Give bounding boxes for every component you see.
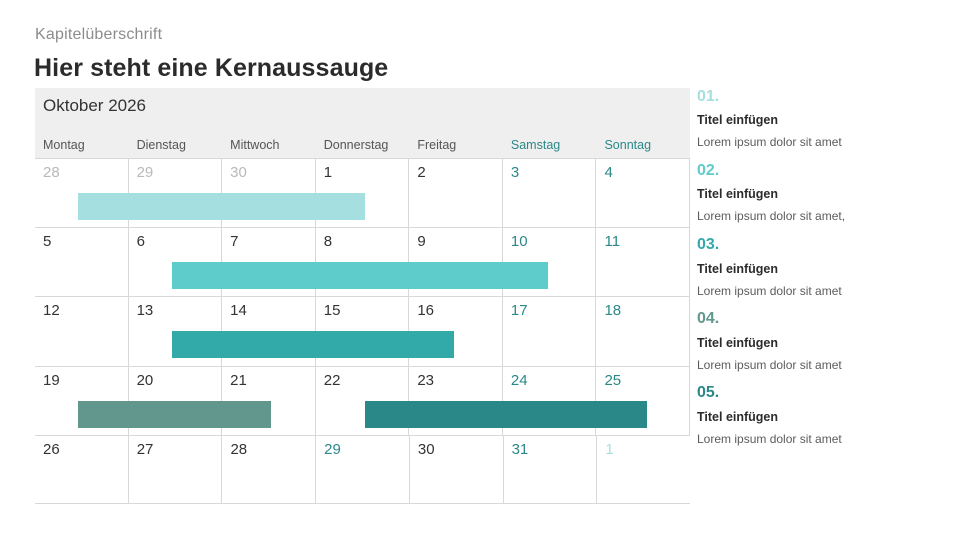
weekday-header-2: Mittwoch [222, 138, 316, 158]
sidebar-item-number: 02. [697, 162, 947, 180]
calendar-day-cell[interactable]: 5 [35, 228, 129, 296]
calendar-day-number: 18 [604, 302, 621, 319]
calendar-day-cell[interactable]: 30 [410, 436, 504, 503]
weekday-header-1: Dienstag [129, 138, 223, 158]
calendar-week-row: 2829301234 [35, 158, 690, 227]
calendar-day-cell[interactable]: 3 [503, 159, 597, 227]
calendar-day-number: 25 [604, 372, 621, 389]
weekday-header-6: Sonntag [596, 138, 690, 158]
calendar-day-number: 27 [137, 441, 154, 458]
sidebar-item-body: Lorem ipsum dolor sit amet, [697, 209, 947, 223]
sidebar-item-title: Titel einfügen [697, 187, 947, 202]
calendar-day-number: 21 [230, 372, 247, 389]
calendar-weekday-row: MontagDienstagMittwochDonnerstagFreitagS… [35, 138, 690, 158]
calendar-event-bar[interactable] [365, 401, 647, 428]
sidebar-item-number: 05. [697, 384, 947, 402]
calendar-day-number: 11 [604, 233, 620, 250]
weekday-header-3: Donnerstag [316, 138, 410, 158]
calendar-week-row: 2627282930311 [35, 435, 690, 504]
calendar-day-number: 16 [417, 302, 434, 319]
sidebar-item[interactable]: 04.Titel einfügenLorem ipsum dolor sit a… [697, 310, 947, 372]
calendar-day-number: 1 [324, 164, 332, 181]
sidebar-item-title: Titel einfügen [697, 410, 947, 425]
calendar-day-cell[interactable]: 11 [596, 228, 690, 296]
page-title: Hier steht eine Kernaussauge [34, 54, 388, 83]
calendar-day-number: 24 [511, 372, 528, 389]
sidebar-item-number: 04. [697, 310, 947, 328]
calendar-week-row: 567891011 [35, 227, 690, 296]
sidebar-item[interactable]: 03.Titel einfügenLorem ipsum dolor sit a… [697, 236, 947, 298]
sidebar-item-number: 03. [697, 236, 947, 254]
calendar-day-number: 10 [511, 233, 528, 250]
calendar-event-bar[interactable] [172, 262, 548, 289]
calendar-day-number: 9 [417, 233, 425, 250]
calendar-day-number: 22 [324, 372, 341, 389]
weekday-header-4: Freitag [409, 138, 503, 158]
sidebar-item-title: Titel einfügen [697, 336, 947, 351]
calendar-event-bar[interactable] [78, 401, 271, 428]
calendar-day-number: 7 [230, 233, 238, 250]
calendar-day-cell[interactable]: 18 [596, 297, 690, 365]
sidebar-item[interactable]: 05.Titel einfügenLorem ipsum dolor sit a… [697, 384, 947, 446]
calendar-day-number: 29 [137, 164, 154, 181]
calendar-day-cell[interactable]: 4 [596, 159, 690, 227]
calendar-day-number: 26 [43, 441, 60, 458]
calendar-day-number: 15 [324, 302, 341, 319]
calendar-day-cell[interactable]: 28 [222, 436, 316, 503]
calendar-day-cell[interactable]: 12 [35, 297, 129, 365]
calendar-day-number: 1 [605, 441, 613, 458]
calendar-day-number: 12 [43, 302, 60, 319]
sidebar-item-number: 01. [697, 88, 947, 106]
calendar-day-cell[interactable]: 2 [409, 159, 503, 227]
calendar-day-number: 28 [230, 441, 247, 458]
calendar-day-number: 30 [230, 164, 247, 181]
calendar-day-number: 30 [418, 441, 435, 458]
calendar-day-number: 6 [137, 233, 145, 250]
sidebar-item-title: Titel einfügen [697, 113, 947, 128]
weekday-header-5: Samstag [503, 138, 597, 158]
calendar-day-cell[interactable]: 26 [35, 436, 129, 503]
sidebar-item[interactable]: 01.Titel einfügenLorem ipsum dolor sit a… [697, 88, 947, 150]
sidebar-list: 01.Titel einfügenLorem ipsum dolor sit a… [697, 88, 947, 458]
calendar-month-label: Oktober 2026 [43, 96, 146, 116]
calendar-event-bar[interactable] [78, 193, 365, 220]
calendar-day-number: 20 [137, 372, 154, 389]
calendar-day-number: 5 [43, 233, 51, 250]
calendar-day-number: 31 [512, 441, 529, 458]
calendar-day-cell[interactable]: 31 [504, 436, 598, 503]
calendar-day-number: 23 [417, 372, 434, 389]
calendar-day-number: 8 [324, 233, 332, 250]
calendar-grid: 2829301234567891011121314151617181920212… [35, 158, 690, 504]
sidebar-item-body: Lorem ipsum dolor sit amet [697, 358, 947, 372]
calendar-day-cell[interactable]: 27 [129, 436, 223, 503]
calendar-day-number: 19 [43, 372, 60, 389]
calendar-day-number: 29 [324, 441, 341, 458]
sidebar-item-body: Lorem ipsum dolor sit amet [697, 432, 947, 446]
chapter-label: Kapitelüberschrift [35, 26, 162, 44]
calendar-day-cell[interactable]: 29 [316, 436, 410, 503]
calendar-day-number: 17 [511, 302, 528, 319]
calendar-day-number: 3 [511, 164, 519, 181]
calendar-day-cell[interactable]: 1 [597, 436, 690, 503]
calendar-week-row: 12131415161718 [35, 296, 690, 365]
calendar-day-number: 14 [230, 302, 247, 319]
sidebar-item[interactable]: 02.Titel einfügenLorem ipsum dolor sit a… [697, 162, 947, 224]
calendar: Oktober 2026 MontagDienstagMittwochDonne… [35, 88, 690, 504]
sidebar-item-body: Lorem ipsum dolor sit amet [697, 284, 947, 298]
calendar-week-row: 19202122232425 [35, 366, 690, 435]
sidebar-item-title: Titel einfügen [697, 262, 947, 277]
calendar-day-number: 4 [604, 164, 612, 181]
sidebar-item-body: Lorem ipsum dolor sit amet [697, 135, 947, 149]
calendar-day-number: 28 [43, 164, 60, 181]
calendar-day-cell[interactable]: 17 [503, 297, 597, 365]
calendar-day-number: 13 [137, 302, 154, 319]
weekday-header-0: Montag [35, 138, 129, 158]
calendar-event-bar[interactable] [172, 331, 454, 358]
calendar-day-number: 2 [417, 164, 425, 181]
